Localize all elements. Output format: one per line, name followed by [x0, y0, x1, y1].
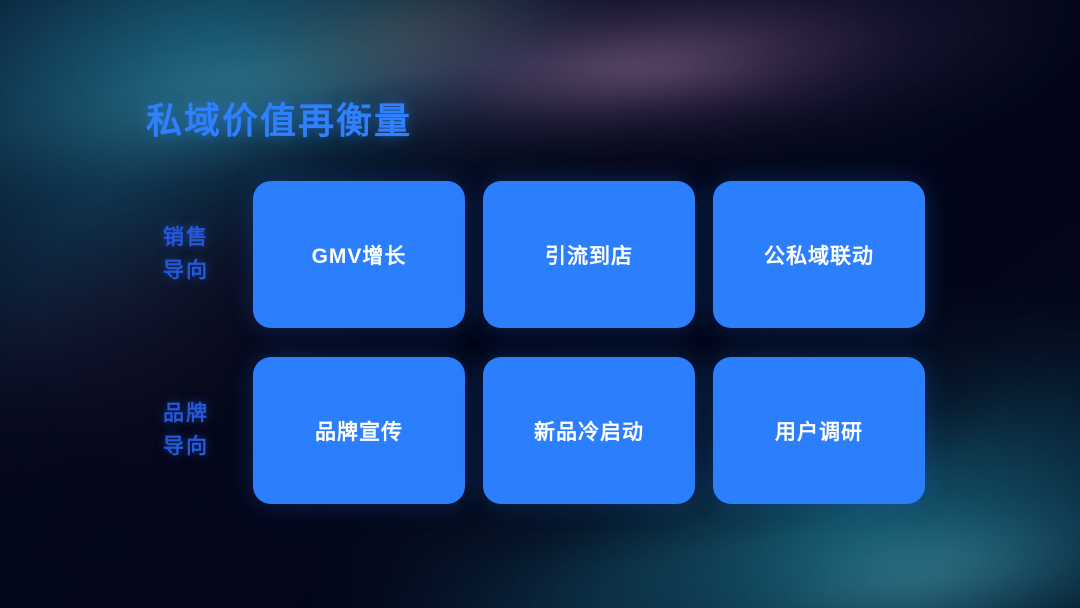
page-title: 私域价值再衡量 — [146, 92, 412, 144]
card-gmv-growth[interactable]: GMV增长 — [253, 181, 465, 328]
row-label-brand-line1: 品牌 — [163, 401, 209, 427]
card-drive-to-store[interactable]: 引流到店 — [483, 181, 695, 328]
card-public-private-linkage[interactable]: 公私域联动 — [713, 181, 925, 328]
row-label-brand-line2: 导向 — [163, 434, 209, 460]
card-new-product-cold-start[interactable]: 新品冷启动 — [483, 357, 695, 504]
card-user-research[interactable]: 用户调研 — [713, 357, 925, 504]
card-label: 用户调研 — [775, 416, 863, 446]
matrix-row-brand: 品牌 导向 品牌宣传 新品冷启动 用户调研 — [136, 357, 926, 504]
row-label-sales-line2: 导向 — [163, 258, 209, 284]
matrix-cards-sales: GMV增长 引流到店 公私域联动 — [253, 181, 926, 328]
value-matrix: 销售 导向 GMV增长 引流到店 公私域联动 — [136, 181, 926, 504]
slide-content: 私域价值再衡量 销售 导向 GMV增长 引流到店 公私域联动 — [0, 0, 1080, 608]
card-label: 引流到店 — [545, 240, 633, 270]
card-label: 公私域联动 — [764, 240, 874, 270]
matrix-row-sales: 销售 导向 GMV增长 引流到店 公私域联动 — [136, 181, 926, 328]
row-label-brand: 品牌 导向 — [136, 357, 236, 504]
card-label: 新品冷启动 — [534, 416, 644, 446]
card-label: 品牌宣传 — [315, 416, 403, 446]
card-label: GMV增长 — [312, 240, 407, 270]
row-label-sales-line1: 销售 — [163, 225, 209, 251]
presentation-slide: 私域价值再衡量 销售 导向 GMV增长 引流到店 公私域联动 — [0, 0, 1080, 608]
matrix-cards-brand: 品牌宣传 新品冷启动 用户调研 — [253, 357, 926, 504]
row-label-sales: 销售 导向 — [136, 181, 236, 328]
card-brand-promotion[interactable]: 品牌宣传 — [253, 357, 465, 504]
